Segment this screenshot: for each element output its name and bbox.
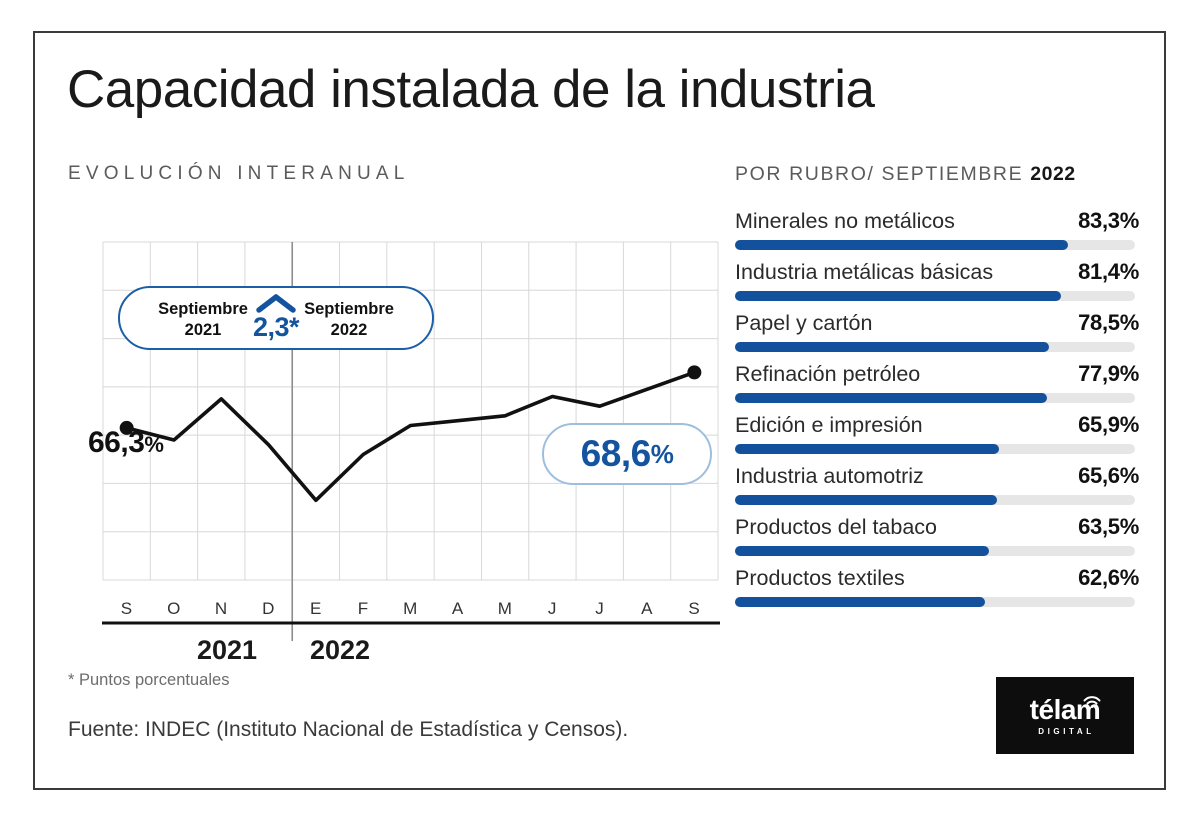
bar-row: Industria metálicas básicas81,4% bbox=[735, 259, 1139, 310]
bar-label: Refinación petróleo bbox=[735, 362, 920, 387]
infographic-frame: Capacidad instalada de la industria EVOL… bbox=[33, 31, 1166, 790]
bar-track bbox=[735, 393, 1135, 403]
bar-row-header: Industria metálicas básicas81,4% bbox=[735, 259, 1139, 289]
compare-left-month: Septiembre bbox=[158, 300, 248, 318]
bar-row: Refinación petróleo77,9% bbox=[735, 361, 1139, 412]
compare-right-year: 2022 bbox=[280, 320, 418, 341]
month-label: A bbox=[438, 599, 478, 619]
bar-label: Productos del tabaco bbox=[735, 515, 937, 540]
month-label: D bbox=[249, 599, 289, 619]
right-subtitle-year: 2022 bbox=[1030, 163, 1075, 185]
month-label: S bbox=[107, 599, 147, 619]
bar-row: Productos textiles62,6% bbox=[735, 565, 1139, 616]
right-section-subtitle: POR RUBRO/ SEPTIEMBRE 2022 bbox=[735, 163, 1076, 186]
month-label: S bbox=[674, 599, 714, 619]
page-title: Capacidad instalada de la industria bbox=[67, 59, 875, 120]
bar-label: Minerales no metálicos bbox=[735, 209, 955, 234]
bar-track bbox=[735, 240, 1135, 250]
bar-row-header: Papel y cartón78,5% bbox=[735, 310, 1139, 340]
wifi-icon bbox=[1082, 685, 1102, 713]
month-label: M bbox=[485, 599, 525, 619]
data-point-last bbox=[687, 365, 701, 379]
bar-fill bbox=[735, 240, 1068, 250]
bar-track bbox=[735, 495, 1135, 505]
month-label: F bbox=[343, 599, 383, 619]
compare-right-month: Septiembre bbox=[304, 300, 394, 318]
bar-value: 63,5% bbox=[1078, 514, 1139, 540]
start-value-percent: % bbox=[144, 432, 164, 457]
bar-row: Papel y cartón78,5% bbox=[735, 310, 1139, 361]
month-label: N bbox=[201, 599, 241, 619]
start-value-number: 66,3 bbox=[88, 426, 144, 459]
source-note: Fuente: INDEC (Instituto Nacional de Est… bbox=[68, 718, 628, 742]
bar-value: 83,3% bbox=[1078, 208, 1139, 234]
footnote: * Puntos porcentuales bbox=[68, 671, 229, 690]
compare-right: Septiembre 2022 bbox=[280, 299, 418, 340]
bar-row: Industria automotriz65,6% bbox=[735, 463, 1139, 514]
bar-fill bbox=[735, 393, 1047, 403]
bar-label: Industria automotriz bbox=[735, 464, 924, 489]
bar-label: Papel y cartón bbox=[735, 311, 872, 336]
bar-fill bbox=[735, 291, 1061, 301]
month-label: E bbox=[296, 599, 336, 619]
month-label: O bbox=[154, 599, 194, 619]
bar-label: Productos textiles bbox=[735, 566, 905, 591]
bar-row: Productos del tabaco63,5% bbox=[735, 514, 1139, 565]
telam-logo-subtext: DIGITAL bbox=[1038, 727, 1095, 736]
bar-label: Edición e impresión bbox=[735, 413, 923, 438]
bar-label: Industria metálicas básicas bbox=[735, 260, 993, 285]
bar-row-header: Edición e impresión65,9% bbox=[735, 412, 1139, 442]
bar-fill bbox=[735, 444, 999, 454]
axis-year-2021: 2021 bbox=[197, 635, 257, 666]
month-label: J bbox=[532, 599, 572, 619]
current-value-percent: % bbox=[651, 439, 674, 470]
bar-row: Minerales no metálicos83,3% bbox=[735, 208, 1139, 259]
category-bar-list: Minerales no metálicos83,3%Industria met… bbox=[735, 208, 1139, 616]
bar-value: 62,6% bbox=[1078, 565, 1139, 591]
current-value-callout: 68,6% bbox=[542, 423, 712, 485]
axis-year-2022: 2022 bbox=[310, 635, 370, 666]
bar-row-header: Minerales no metálicos83,3% bbox=[735, 208, 1139, 238]
line-chart: Septiembre 2021 2,3* Septiembre 2022 68,… bbox=[70, 211, 725, 641]
bar-track bbox=[735, 291, 1135, 301]
bar-fill bbox=[735, 597, 985, 607]
bar-value: 65,6% bbox=[1078, 463, 1139, 489]
bar-row-header: Productos del tabaco63,5% bbox=[735, 514, 1139, 544]
month-label: J bbox=[580, 599, 620, 619]
bar-value: 78,5% bbox=[1078, 310, 1139, 336]
telam-wordmark: télam bbox=[1030, 696, 1101, 724]
bar-row-header: Industria automotriz65,6% bbox=[735, 463, 1139, 493]
start-value-label: 66,3% bbox=[88, 426, 164, 460]
right-subtitle-prefix: POR RUBRO/ SEPTIEMBRE bbox=[735, 163, 1030, 185]
bar-track bbox=[735, 444, 1135, 454]
telam-logo: télam DIGITAL bbox=[996, 677, 1134, 754]
bar-fill bbox=[735, 546, 989, 556]
bar-track bbox=[735, 342, 1135, 352]
bar-row: Edición e impresión65,9% bbox=[735, 412, 1139, 463]
bar-fill bbox=[735, 342, 1049, 352]
bar-row-header: Productos textiles62,6% bbox=[735, 565, 1139, 595]
comparison-callout: Septiembre 2021 2,3* Septiembre 2022 bbox=[118, 286, 434, 350]
current-value-number: 68,6 bbox=[581, 433, 651, 475]
month-label: M bbox=[391, 599, 431, 619]
month-label: A bbox=[627, 599, 667, 619]
bar-value: 81,4% bbox=[1078, 259, 1139, 285]
bar-value: 65,9% bbox=[1078, 412, 1139, 438]
left-section-subtitle: EVOLUCIÓN INTERANUAL bbox=[68, 163, 410, 185]
bar-track bbox=[735, 597, 1135, 607]
bar-row-header: Refinación petróleo77,9% bbox=[735, 361, 1139, 391]
bar-value: 77,9% bbox=[1078, 361, 1139, 387]
bar-fill bbox=[735, 495, 997, 505]
bar-track bbox=[735, 546, 1135, 556]
